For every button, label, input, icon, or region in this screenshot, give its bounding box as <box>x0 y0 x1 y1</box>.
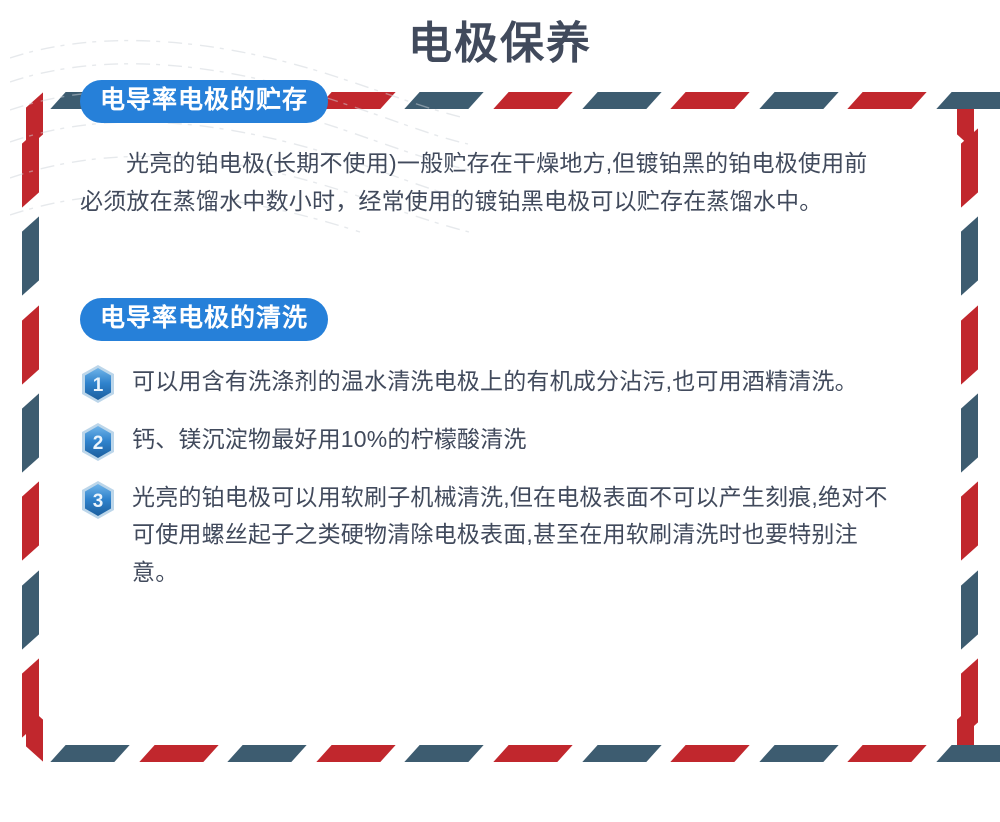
step-number-badge-icon: 1 <box>80 364 116 404</box>
border-segment-right <box>961 658 978 737</box>
border-segment-bottom <box>671 745 750 762</box>
list-item: 2 钙、镁沉淀物最好用10%的柠檬酸清洗 <box>80 421 890 462</box>
border-segment-right <box>961 570 978 649</box>
border-segment-right <box>961 393 978 472</box>
border-segment-left <box>22 393 39 472</box>
section-heading-cleaning: 电导率电极的清洗 <box>80 298 328 341</box>
section-cleaning: 电导率电极的清洗 1 <box>80 298 890 591</box>
border-segment-left <box>22 482 39 561</box>
border-segment-right <box>961 482 978 561</box>
step-number-badge-icon: 3 <box>80 480 116 520</box>
border-segment-left <box>22 128 39 207</box>
border-segment-left <box>22 305 39 384</box>
border-segment-bottom <box>936 745 1000 762</box>
section-heading-storage: 电导率电极的贮存 <box>80 80 328 123</box>
list-item-text: 光亮的铂电极可以用软刷子机械清洗,但在电极表面不可以产生刻痕,绝对不可使用螺丝起… <box>132 479 890 591</box>
list-item: 3 光亮的铂电极可以用软刷子机械清洗,但在电极表面不可以产生刻痕,绝对不可使用螺… <box>80 479 890 591</box>
border-segment-bottom <box>139 745 218 762</box>
border-segment-bottom <box>493 745 572 762</box>
section-storage: 电导率电极的贮存 光亮的铂电极(长期不使用)一般贮存在干燥地方,但镀铂黑的铂电极… <box>80 80 890 220</box>
list-item-text: 可以用含有洗涤剂的温水清洗电极上的有机成分沾污,也可用酒精清洗。 <box>132 363 890 400</box>
border-segment-bottom <box>228 745 307 762</box>
border-segment-left <box>22 217 39 296</box>
step-number-text: 3 <box>93 491 104 512</box>
border-segment-right <box>961 305 978 384</box>
cleaning-steps-list: 1 可以用含有洗涤剂的温水清洗电极上的有机成分沾污,也可用酒精清洗。 <box>80 363 890 591</box>
section-paragraph-storage: 光亮的铂电极(长期不使用)一般贮存在干燥地方,但镀铂黑的铂电极使用前必须放在蒸馏… <box>80 145 890 220</box>
content-area: 电导率电极的贮存 光亮的铂电极(长期不使用)一般贮存在干燥地方,但镀铂黑的铂电极… <box>80 60 890 608</box>
step-number-text: 1 <box>93 375 104 396</box>
step-number-text: 2 <box>93 433 104 454</box>
step-number-badge-icon: 2 <box>80 422 116 462</box>
border-segment-bottom <box>848 745 927 762</box>
border-segment-bottom <box>50 745 129 762</box>
list-item-text: 钙、镁沉淀物最好用10%的柠檬酸清洗 <box>132 421 890 458</box>
list-item: 1 可以用含有洗涤剂的温水清洗电极上的有机成分沾污,也可用酒精清洗。 <box>80 363 890 404</box>
border-segment-top <box>936 92 1000 109</box>
border-segment-bottom <box>405 745 484 762</box>
border-segment-bottom <box>316 745 395 762</box>
border-segment-bottom <box>582 745 661 762</box>
border-segment-right <box>961 217 978 296</box>
border-segment-bottom <box>759 745 838 762</box>
border-segment-right <box>961 128 978 207</box>
border-segment-left <box>22 570 39 649</box>
